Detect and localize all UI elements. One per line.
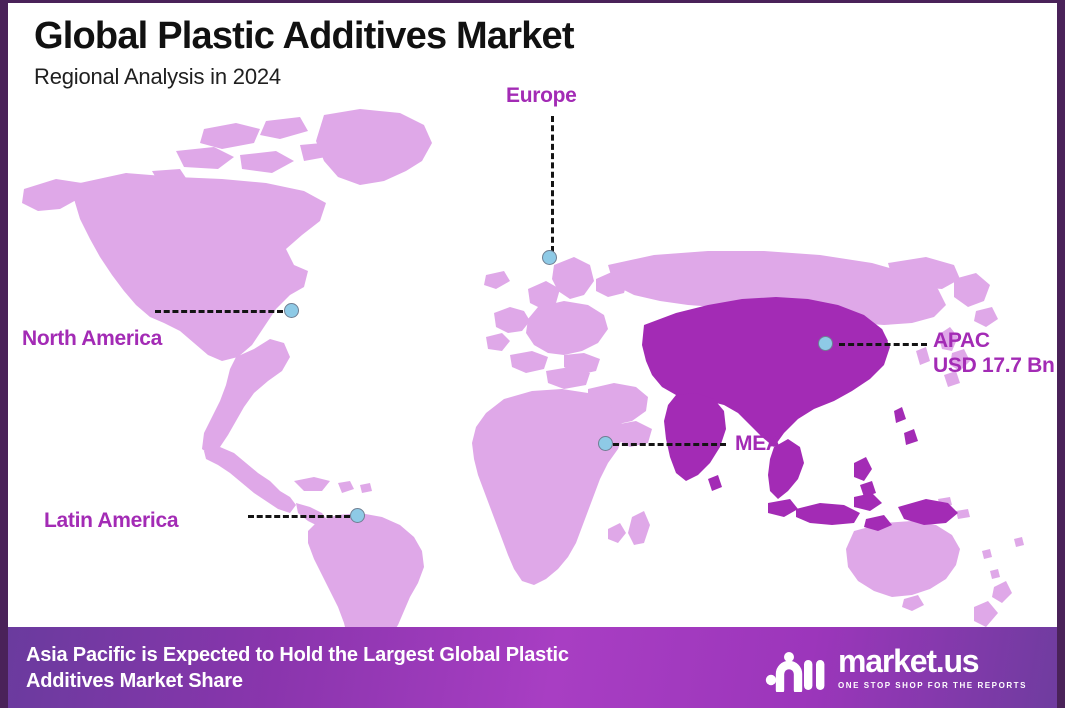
brand-wordmark: market.us — [838, 645, 978, 677]
region-name-apac: APAC — [933, 329, 990, 352]
map-marker-europe[interactable] — [542, 250, 557, 265]
region-label-north-america: North America — [22, 327, 162, 352]
footer-headline-line-2: Additives Market Share — [26, 668, 569, 694]
region-name-latin-america: Latin America — [44, 509, 178, 532]
leader-line-latin-america — [248, 515, 350, 518]
region-label-mea: MEA — [735, 432, 781, 457]
infographic-canvas: Global Plastic Additives Market Regional… — [0, 0, 1065, 708]
brand-tagline: ONE STOP SHOP FOR THE REPORTS — [838, 681, 1027, 690]
region-name-north-america: North America — [22, 327, 162, 350]
region-name-mea: MEA — [735, 432, 781, 455]
map-marker-mea[interactable] — [598, 436, 613, 451]
region-name-europe: Europe — [506, 84, 577, 107]
leader-line-north-america — [155, 310, 283, 313]
brand-wordmark-block: market.us ONE STOP SHOP FOR THE REPORTS — [838, 645, 1027, 690]
footer-headline-line-1: Asia Pacific is Expected to Hold the Lar… — [26, 642, 569, 668]
leader-line-apac — [839, 343, 927, 346]
leader-line-europe — [551, 116, 554, 252]
region-value-apac: USD 17.7 Bn — [933, 354, 1055, 379]
map-marker-latin-america[interactable] — [350, 508, 365, 523]
region-label-apac: APAC USD 17.7 Bn — [933, 329, 1055, 379]
annotation-layer: North America Europe APAC USD 17.7 Bn ME… — [8, 3, 1065, 708]
region-label-latin-america: Latin America — [44, 509, 178, 534]
footer-headline: Asia Pacific is Expected to Hold the Lar… — [26, 642, 569, 694]
market-us-logo-icon — [764, 644, 826, 692]
footer-banner: Asia Pacific is Expected to Hold the Lar… — [8, 627, 1057, 708]
map-marker-apac[interactable] — [818, 336, 833, 351]
leader-line-mea — [613, 443, 726, 446]
region-label-europe: Europe — [506, 84, 577, 109]
brand-logo[interactable]: market.us ONE STOP SHOP FOR THE REPORTS — [764, 644, 1037, 692]
map-marker-north-america[interactable] — [284, 303, 299, 318]
